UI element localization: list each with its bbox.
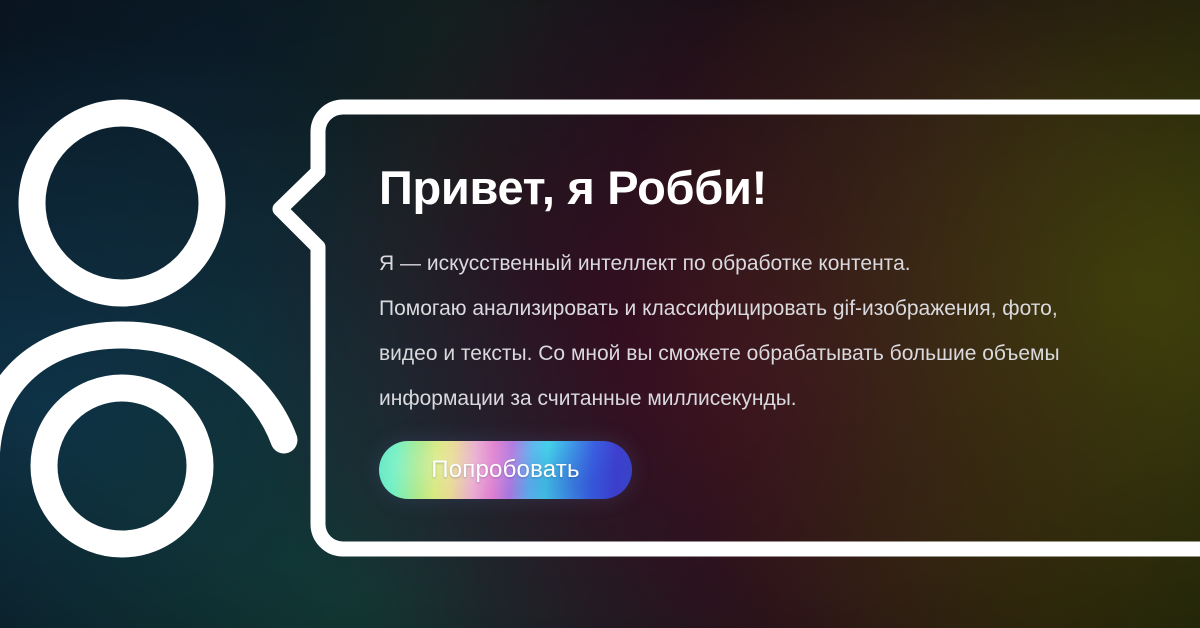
description-line-2: Помогаю анализировать и классифицировать…	[379, 286, 1159, 331]
description-line-3: видео и тексты. Со мной вы сможете обраб…	[379, 331, 1159, 376]
bubble-content: Привет, я Робби! Я — искусственный интел…	[379, 160, 1169, 499]
try-button-label: Попробовать	[431, 456, 579, 484]
try-button[interactable]: Попробовать	[379, 441, 632, 499]
description-paragraph: Я — искусственный интеллект по обработке…	[379, 241, 1159, 421]
page-title: Привет, я Робби!	[379, 160, 1169, 216]
description-line-4: информации за считанные миллисекунды.	[379, 376, 1159, 421]
cta-wrapper: Попробовать	[379, 441, 1169, 499]
description-line-1: Я — искусственный интеллект по обработке…	[379, 241, 1159, 286]
mascot-body-icon	[44, 388, 200, 544]
mascot-head-icon	[32, 113, 212, 293]
promo-banner: Привет, я Робби! Я — искусственный интел…	[0, 0, 1200, 628]
